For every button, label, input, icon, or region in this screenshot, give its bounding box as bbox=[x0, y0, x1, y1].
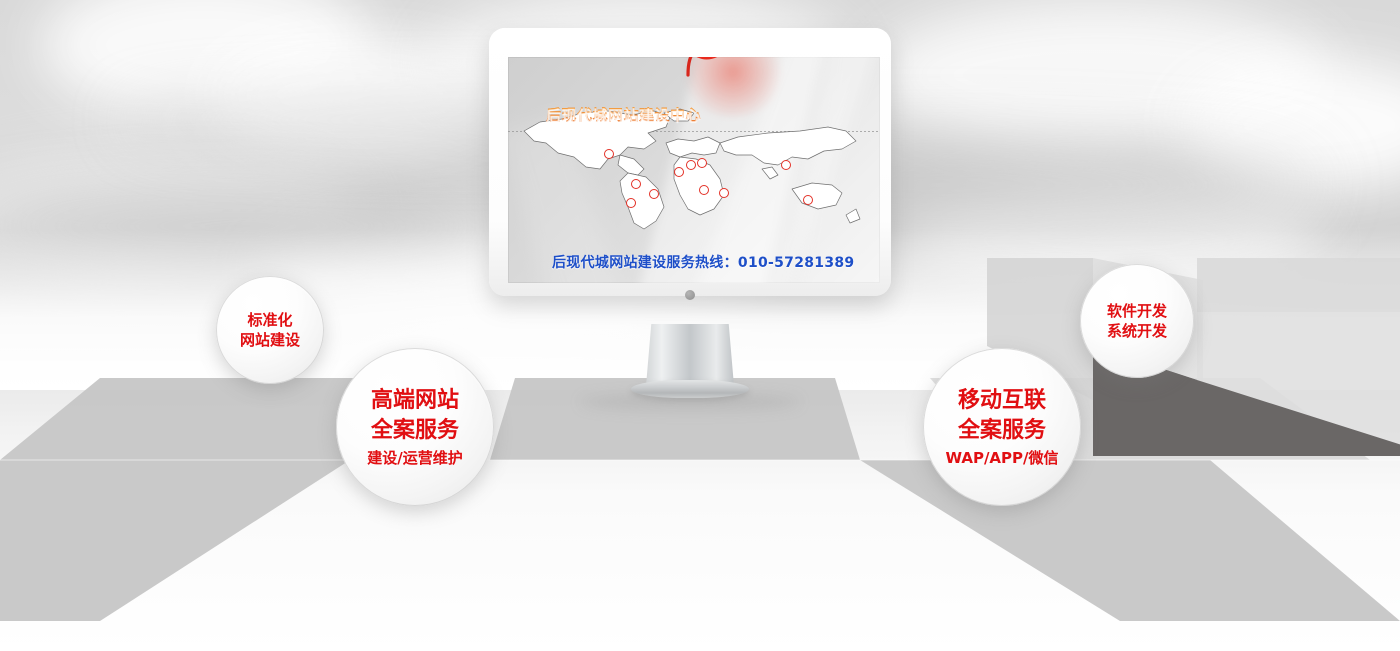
map-pin-icon bbox=[686, 160, 696, 170]
bubble-mobile[interactable]: 移动互联 全案服务 WAP/APP/微信 bbox=[923, 348, 1081, 506]
map-pin-icon bbox=[699, 185, 709, 195]
monitor-drop-shadow bbox=[580, 394, 800, 410]
bubble-line-2: 网站建设 bbox=[240, 330, 300, 350]
monitor-stand-neck bbox=[646, 324, 734, 386]
map-pin-icon bbox=[719, 188, 729, 198]
map-pin-icon bbox=[649, 189, 659, 199]
monitor-logo-dot bbox=[685, 290, 695, 300]
imac-monitor: 后现代城网站建设中心 后现代城网站建设中心 后现代城网站建设服务热线：010-5… bbox=[489, 28, 891, 296]
bubble-standard[interactable]: 标准化 网站建设 bbox=[216, 276, 324, 384]
screen-hotline: 后现代城网站建设服务热线：010-57281389 bbox=[552, 252, 852, 272]
map-pin-icon bbox=[626, 198, 636, 208]
bubble-subtitle: WAP/APP/微信 bbox=[945, 448, 1058, 468]
bubble-line-2: 全案服务 bbox=[958, 416, 1046, 446]
map-pin-icon bbox=[631, 179, 641, 189]
map-pin-icon bbox=[674, 167, 684, 177]
bubble-software[interactable]: 软件开发 系统开发 bbox=[1080, 264, 1194, 378]
map-pin-icon bbox=[781, 160, 791, 170]
bubble-line-1: 移动互联 bbox=[958, 386, 1046, 416]
monitor-screen: 后现代城网站建设中心 后现代城网站建设中心 后现代城网站建设服务热线：010-5… bbox=[508, 57, 880, 283]
screen-title: 后现代城网站建设中心 bbox=[546, 104, 701, 125]
bubble-line-2: 系统开发 bbox=[1107, 321, 1167, 341]
map-pin-icon bbox=[803, 195, 813, 205]
map-pin-icon bbox=[697, 158, 707, 168]
bubble-line-1: 标准化 bbox=[247, 310, 292, 330]
red-location-flag-icon bbox=[676, 57, 730, 77]
bubble-line-1: 软件开发 bbox=[1107, 301, 1167, 321]
bubble-highend[interactable]: 高端网站 全案服务 建设/运营维护 bbox=[336, 348, 494, 506]
banner-stage: 后现代城网站建设中心 后现代城网站建设中心 后现代城网站建设服务热线：010-5… bbox=[0, 0, 1400, 651]
bubble-subtitle: 建设/运营维护 bbox=[367, 448, 462, 468]
bubble-line-2: 全案服务 bbox=[371, 416, 459, 446]
map-pin-icon bbox=[604, 149, 614, 159]
bubble-line-1: 高端网站 bbox=[371, 386, 459, 416]
